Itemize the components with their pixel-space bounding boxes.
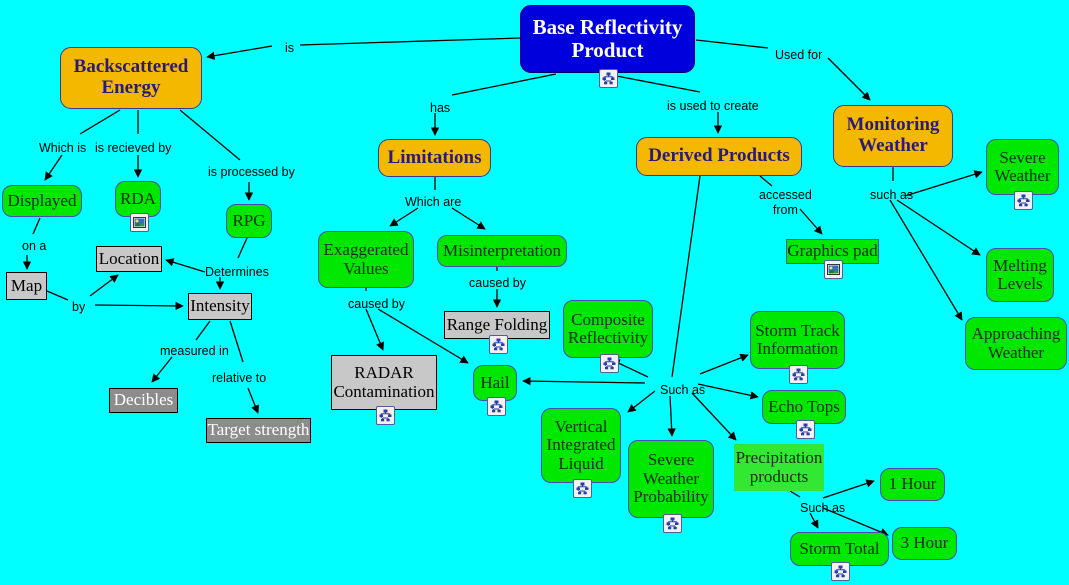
- node-location[interactable]: Location: [96, 246, 162, 272]
- node-severe-weather-probability[interactable]: SevereWeatherProbability: [628, 440, 714, 518]
- node-severe-weather[interactable]: SevereWeather: [986, 139, 1059, 195]
- node-map[interactable]: Map: [6, 272, 47, 300]
- node-radar-contamination[interactable]: RADARContamination: [331, 355, 437, 410]
- edge-label-caused-by-left: caused by: [348, 297, 405, 312]
- edge-label-is-processed-by: is processed by: [208, 165, 295, 180]
- concept-map-icon[interactable]: [573, 479, 592, 498]
- node-label: Decibles: [110, 391, 177, 409]
- node-label: SevereWeatherProbability: [629, 451, 713, 506]
- edge-label-used-for: Used for: [775, 48, 822, 63]
- node-label: ApproachingWeather: [966, 325, 1066, 362]
- concept-map-icon[interactable]: [831, 562, 850, 581]
- edge-label-on-a: on a: [22, 239, 46, 254]
- concept-map-icon[interactable]: [487, 397, 506, 416]
- node-label: Hail: [474, 374, 516, 392]
- edge-label-which-are: Which are: [405, 195, 461, 210]
- node-limitations[interactable]: Limitations: [378, 139, 491, 177]
- edge-label-has: has: [430, 101, 450, 116]
- node-label: VerticalIntegratedLiquid: [542, 418, 620, 473]
- node-storm-track-information[interactable]: Storm TrackInformation: [750, 311, 845, 369]
- edge-label-is: is: [285, 41, 294, 56]
- edge-label-such-as-precip: Such as: [800, 501, 845, 516]
- node-label: Limitations: [379, 148, 490, 169]
- node-label: Precipitationproducts: [734, 449, 824, 486]
- concept-map-icon[interactable]: [376, 406, 395, 425]
- node-target-strength[interactable]: Target strength: [206, 418, 311, 443]
- node-label: RDA: [116, 190, 160, 208]
- node-label: MeltingLevels: [987, 257, 1053, 294]
- node-label: RPG: [227, 212, 271, 230]
- node-rda[interactable]: RDA: [115, 181, 161, 217]
- node-echo-tops[interactable]: Echo Tops: [762, 390, 846, 424]
- node-label: 3 Hour: [893, 534, 956, 552]
- edge-label-by: by: [72, 300, 85, 315]
- node-label: Displayed: [3, 192, 81, 210]
- edge-label-determines: Determines: [205, 265, 269, 280]
- node-label: Graphics pad: [787, 242, 878, 260]
- node-label: Target strength: [207, 421, 310, 439]
- node-monitoring-weather[interactable]: MonitoringWeather: [833, 105, 953, 167]
- node-three-hour[interactable]: 3 Hour: [892, 527, 957, 560]
- node-label: Base ReflectivityProduct: [521, 16, 694, 61]
- concept-map-canvas: Base ReflectivityProductBackscatteredEne…: [0, 0, 1069, 585]
- node-label: Derived Products: [637, 146, 801, 167]
- edge-label-is-used-to-create: is used to create: [667, 99, 759, 114]
- node-label: 1 Hour: [881, 475, 944, 493]
- node-one-hour[interactable]: 1 Hour: [880, 468, 945, 501]
- node-label: ExaggeratedValues: [319, 241, 413, 278]
- node-hail[interactable]: Hail: [473, 365, 517, 401]
- node-label: Intensity: [189, 297, 251, 315]
- node-label: Storm TrackInformation: [751, 322, 844, 359]
- node-rpg[interactable]: RPG: [226, 204, 272, 238]
- node-label: Location: [97, 250, 161, 268]
- node-derived-products[interactable]: Derived Products: [636, 137, 802, 176]
- edge-label-is-recieved-by: is recieved by: [95, 141, 171, 156]
- node-backscattered-energy[interactable]: BackscatteredEnergy: [60, 47, 202, 109]
- picture-icon[interactable]: [130, 213, 149, 232]
- node-decibles[interactable]: Decibles: [109, 388, 178, 413]
- edge-label-relative-to: relative to: [212, 371, 266, 386]
- node-label: CompositeReflectivity: [564, 311, 652, 348]
- node-vertical-integrated-liquid[interactable]: VerticalIntegratedLiquid: [541, 408, 621, 483]
- edge-label-which-is: Which is: [39, 141, 86, 156]
- concept-map-icon[interactable]: [663, 514, 682, 533]
- node-storm-total[interactable]: Storm Total: [790, 532, 889, 566]
- edge-label-caused-by-right: caused by: [469, 276, 526, 291]
- node-approaching-weather[interactable]: ApproachingWeather: [965, 317, 1067, 370]
- concept-map-icon[interactable]: [796, 420, 815, 439]
- concept-map-icon[interactable]: [789, 365, 808, 384]
- node-precipitation-products[interactable]: Precipitationproducts: [734, 444, 824, 491]
- edge-label-such-as-derived: Such as: [660, 383, 705, 398]
- node-exaggerated-values[interactable]: ExaggeratedValues: [318, 231, 414, 288]
- node-label: Echo Tops: [763, 398, 845, 416]
- node-label: MonitoringWeather: [834, 115, 952, 156]
- edge-label-such-as-weather: such as: [870, 188, 913, 203]
- concept-map-icon[interactable]: [1014, 191, 1033, 210]
- node-label: Misinterpretation: [438, 242, 566, 260]
- node-label: SevereWeather: [987, 149, 1058, 186]
- concept-map-icon[interactable]: [600, 354, 619, 373]
- node-label: BackscatteredEnergy: [61, 57, 201, 98]
- node-composite-reflectivity[interactable]: CompositeReflectivity: [563, 300, 653, 358]
- concept-map-icon[interactable]: [489, 335, 508, 354]
- node-label: Storm Total: [791, 540, 888, 558]
- picture-icon[interactable]: [824, 260, 843, 279]
- node-intensity[interactable]: Intensity: [188, 293, 252, 320]
- node-label: RADARContamination: [332, 364, 436, 401]
- edge-label-accessed-from: accessedfrom: [759, 188, 812, 218]
- concept-map-icon[interactable]: [599, 69, 618, 88]
- node-misinterpretation[interactable]: Misinterpretation: [437, 235, 567, 267]
- edge-label-measured-in: measured in: [160, 344, 229, 359]
- node-displayed[interactable]: Displayed: [2, 185, 82, 217]
- node-label: Range Folding: [445, 316, 549, 334]
- node-label: Map: [7, 277, 46, 295]
- node-melting-levels[interactable]: MeltingLevels: [986, 248, 1054, 302]
- node-base-reflectivity-product[interactable]: Base ReflectivityProduct: [520, 5, 695, 73]
